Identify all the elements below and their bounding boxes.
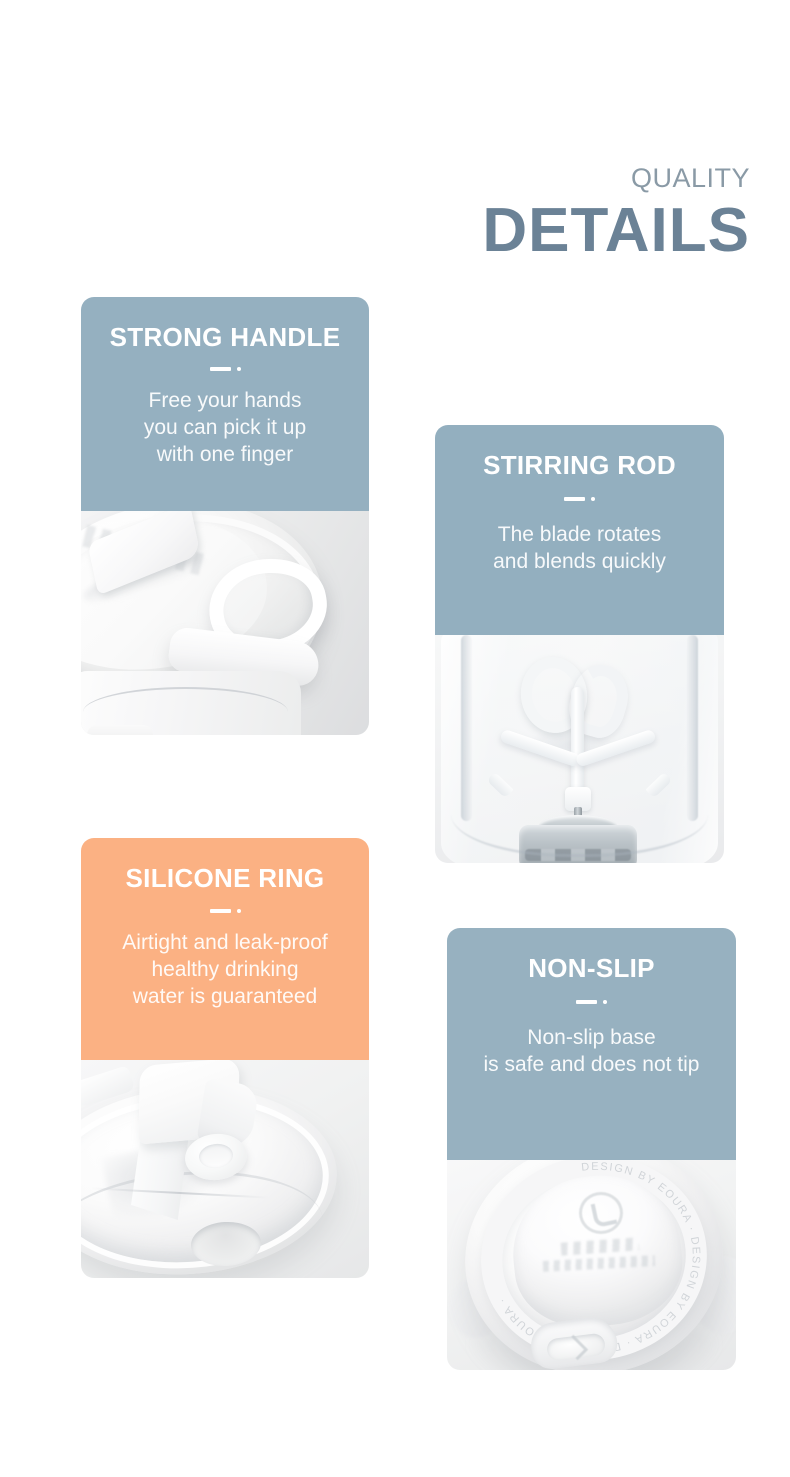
card-description-line: Free your hands: [95, 387, 355, 414]
card-header: STRONG HANDLE Free your hands you can pi…: [81, 297, 369, 511]
card-description: Free your hands you can pick it up with …: [95, 387, 355, 469]
product-photo-stirring-rod: [435, 635, 724, 863]
card-description-line: and blends quickly: [449, 548, 710, 575]
card-title: NON-SLIP: [461, 954, 722, 983]
card-description-line: with one finger: [95, 441, 355, 468]
card-description-line: is safe and does not tip: [461, 1051, 722, 1078]
page-title: DETAILS: [482, 200, 750, 262]
feature-card-strong-handle[interactable]: STRONG HANDLE Free your hands you can pi…: [81, 297, 369, 735]
card-description-line: Non-slip base: [461, 1024, 722, 1051]
card-title: STIRRING ROD: [449, 451, 710, 480]
card-title: STRONG HANDLE: [95, 323, 355, 352]
dash-dot-divider-icon: [95, 361, 355, 377]
card-description-line: Airtight and leak-proof: [95, 929, 355, 956]
product-photo-silicone-ring: [81, 1060, 369, 1278]
card-description-line: you can pick it up: [95, 414, 355, 441]
dash-dot-divider-icon: [449, 491, 710, 507]
card-description-line: water is guaranteed: [95, 983, 355, 1010]
product-photo-strong-handle: [81, 511, 369, 735]
card-description: Non-slip base is safe and does not tip: [461, 1024, 722, 1079]
card-title: SILICONE RING: [95, 864, 355, 893]
header-eyebrow: QUALITY: [482, 165, 750, 192]
card-description: Airtight and leak-proof healthy drinking…: [95, 929, 355, 1011]
page-header: QUALITY DETAILS: [482, 165, 750, 262]
card-header: NON-SLIP Non-slip base is safe and does …: [447, 928, 736, 1160]
feature-card-non-slip[interactable]: NON-SLIP Non-slip base is safe and does …: [447, 928, 736, 1370]
card-description-line: The blade rotates: [449, 521, 710, 548]
card-description-line: healthy drinking: [95, 956, 355, 983]
card-header: STIRRING ROD The blade rotates and blend…: [435, 425, 724, 635]
feature-card-silicone-ring[interactable]: SILICONE RING Airtight and leak-proof he…: [81, 838, 369, 1278]
dash-dot-divider-icon: [461, 994, 722, 1010]
dash-dot-divider-icon: [95, 903, 355, 919]
card-description: The blade rotates and blends quickly: [449, 521, 710, 576]
card-header: SILICONE RING Airtight and leak-proof he…: [81, 838, 369, 1060]
product-photo-non-slip-base: DESIGN BY EOURA · DESIGN BY EOURA · DESI…: [447, 1160, 736, 1370]
feature-card-stirring-rod[interactable]: STIRRING ROD The blade rotates and blend…: [435, 425, 724, 863]
